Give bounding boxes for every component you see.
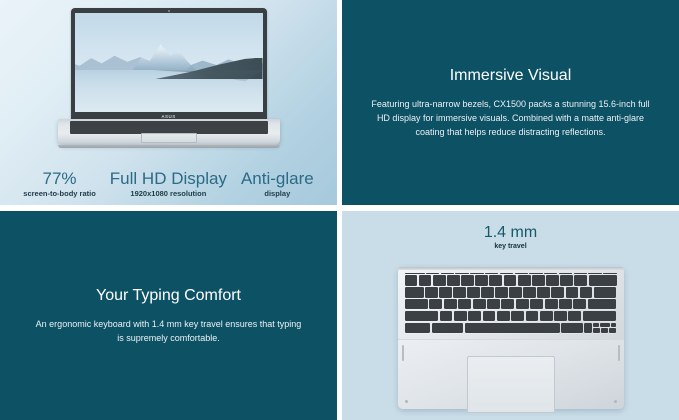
laptop-screen (75, 13, 263, 112)
laptop-keyboard (71, 122, 267, 134)
laptop-open-front-view: ASUS (71, 8, 267, 145)
display-photo-panel: ASUS 77% (0, 0, 337, 205)
rubber-foot-left (405, 400, 408, 403)
keyboard-row-home (405, 299, 617, 309)
laptop-base (58, 119, 280, 145)
laptop-lid: ASUS (71, 8, 267, 120)
keyboard-key-grid (405, 273, 617, 333)
keyboard-row-space (405, 323, 617, 333)
key-travel-stat: 1.4 mm key travel (342, 223, 679, 252)
stat-label: display (241, 189, 314, 199)
stat-screen-to-body: 77% screen-to-body ratio (16, 169, 103, 199)
laptop-hinge (398, 267, 624, 270)
keyboard-row-function (405, 273, 617, 274)
stat-value: Full HD Display (110, 169, 227, 189)
typing-comfort-title: Your Typing Comfort (96, 286, 241, 306)
laptop-keyboard-top-view (398, 267, 624, 409)
key-travel-label: key travel (342, 242, 679, 252)
arrow-keys-cluster (593, 323, 616, 333)
keyboard-row-numbers (405, 275, 617, 285)
immersive-visual-body: Featuring ultra-narrow bezels, CX1500 pa… (365, 97, 657, 139)
display-spec-stats: 77% screen-to-body ratio Full HD Display… (0, 169, 337, 199)
rubber-foot-right (614, 400, 617, 403)
stat-label: 1920x1080 resolution (110, 189, 227, 199)
stat-full-hd-display: Full HD Display 1920x1080 resolution (103, 169, 234, 199)
side-vent-right (618, 345, 620, 361)
keyboard-row-shift (405, 311, 617, 321)
stat-value: 77% (23, 169, 96, 189)
laptop-touchpad (141, 133, 197, 143)
immersive-visual-panel: Immersive Visual Featuring ultra-narrow … (342, 0, 679, 205)
stat-label: screen-to-body ratio (23, 189, 96, 199)
typing-comfort-panel: Your Typing Comfort An ergonomic keyboar… (0, 211, 337, 420)
product-photo: ASUS 77% (0, 0, 337, 205)
typing-comfort-body: An ergonomic keyboard with 1.4 mm key tr… (33, 317, 305, 345)
stat-value: Anti-glare (241, 169, 314, 189)
key-travel-panel: 1.4 mm key travel (342, 211, 679, 420)
touchpad (467, 356, 555, 413)
side-vent-left (402, 345, 404, 361)
palm-rest (398, 339, 624, 409)
stat-anti-glare: Anti-glare display (234, 169, 321, 199)
key-travel-value: 1.4 mm (342, 223, 679, 242)
immersive-visual-title: Immersive Visual (450, 66, 572, 86)
laptop-base-front-edge (58, 145, 280, 149)
feature-panel-grid: ASUS 77% (0, 0, 679, 420)
keyboard-row-qwerty (405, 287, 617, 297)
